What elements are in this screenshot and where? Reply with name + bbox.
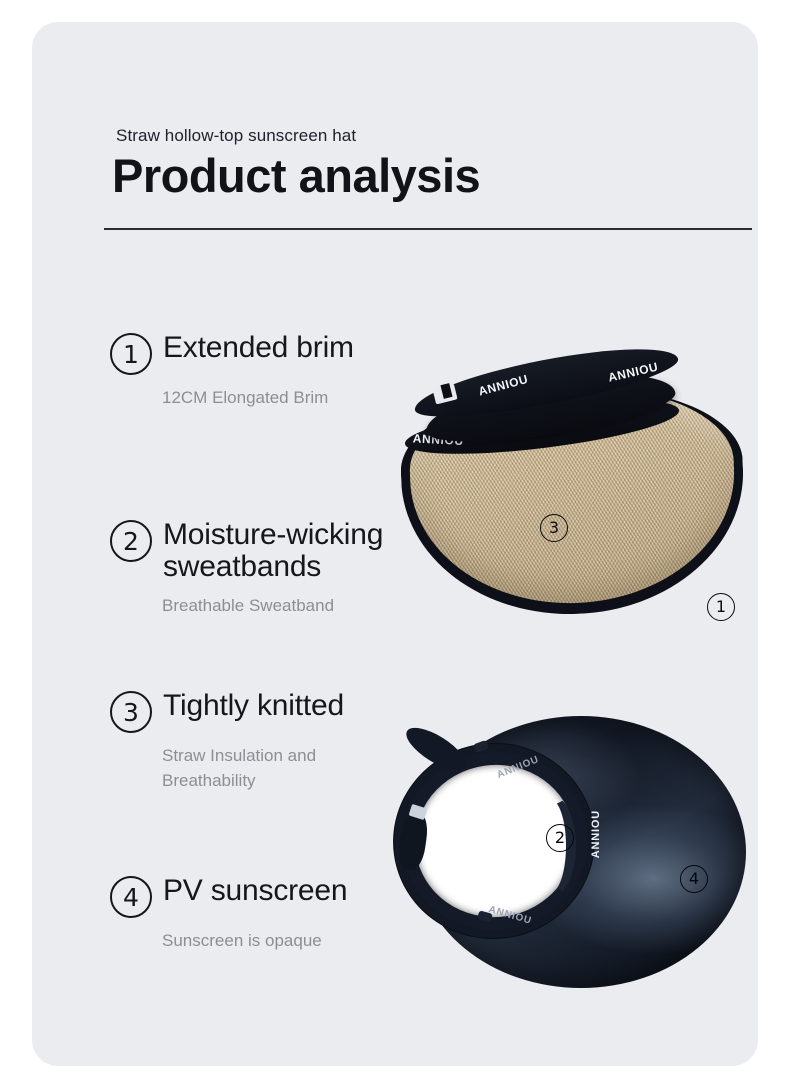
page-title: Product analysis <box>112 150 480 203</box>
feature-1-head: 1 Extended brim <box>110 332 354 375</box>
feature-item-4: 4 PV sunscreen Sunscreen is opaque <box>110 875 347 954</box>
product-infographic-page: Straw hollow-top sunscreen hat Product a… <box>0 0 790 1089</box>
product-photo-visor-underside: ANNIOU ANNIOU ANNIOU 2 4 <box>400 710 758 1002</box>
feature-3-title: Tightly knitted <box>163 690 344 722</box>
feature-4-head: 4 PV sunscreen <box>110 875 347 918</box>
feature-3-number-badge: 3 <box>110 691 152 733</box>
feature-3-subtitle: Straw Insulation and Breathability <box>162 744 372 793</box>
feature-4-title: PV sunscreen <box>163 875 347 907</box>
header-divider <box>104 228 752 230</box>
photo-callout-2: 2 <box>546 824 574 852</box>
product-photo-straw-visor: ANNIOU ANNIOU ANNIOU ANNIOU 3 1 <box>398 350 758 640</box>
infographic-card: Straw hollow-top sunscreen hat Product a… <box>32 22 758 1066</box>
brand-label-headband-top: ANNIOU <box>477 372 530 399</box>
photo-callout-1: 1 <box>707 593 735 621</box>
feature-2-number-badge: 2 <box>110 520 152 562</box>
feature-4-subtitle: Sunscreen is opaque <box>162 929 347 954</box>
brand-label-sweatband: ANNIOU <box>590 810 602 858</box>
visor-strap-upper <box>400 720 471 778</box>
feature-3-head: 3 Tightly knitted <box>110 690 372 733</box>
product-subtitle: Straw hollow-top sunscreen hat <box>116 126 356 146</box>
feature-item-3: 3 Tightly knitted Straw Insulation and B… <box>110 690 372 793</box>
feature-1-title: Extended brim <box>163 332 354 364</box>
feature-1-subtitle: 12CM Elongated Brim <box>162 386 354 411</box>
feature-item-1: 1 Extended brim 12CM Elongated Brim <box>110 332 354 411</box>
feature-1-number-badge: 1 <box>110 333 152 375</box>
photo-callout-3: 3 <box>540 514 568 542</box>
feature-4-number-badge: 4 <box>110 876 152 918</box>
photo-callout-4: 4 <box>680 865 708 893</box>
